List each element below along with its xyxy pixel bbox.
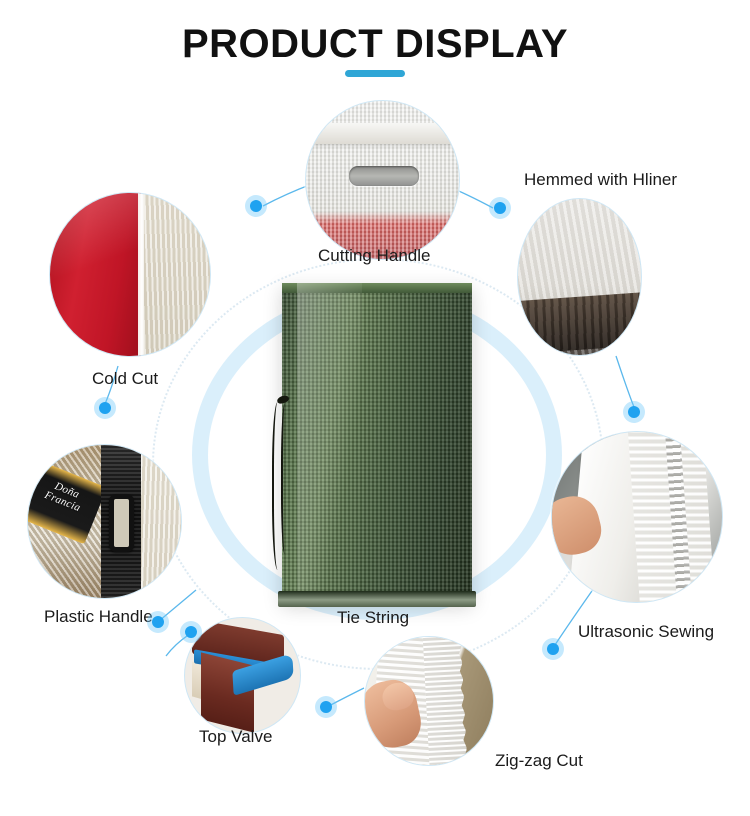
caption-zig-zag-cut: Zig-zag Cut — [495, 751, 583, 771]
caption-plastic-handle: Plastic Handle — [44, 607, 153, 627]
bag-bottom-seam — [278, 591, 476, 607]
caption-ultrasonic-sewing: Ultrasonic Sewing — [578, 622, 714, 642]
line-zig-zag — [327, 688, 364, 707]
caption-cold-cut: Cold Cut — [92, 369, 158, 389]
title-underline-accent — [345, 70, 405, 77]
top-valve-photo[interactable] — [184, 617, 301, 734]
caption-top-valve: Top Valve — [199, 727, 272, 747]
zig-zag-serrated-edge — [423, 636, 469, 766]
zig-zag-cut-photo[interactable] — [364, 636, 494, 766]
page-title: PRODUCT DISPLAY — [0, 22, 750, 67]
connector-dot-cutting-handle-left — [250, 200, 262, 212]
valve-bag-body — [201, 653, 254, 733]
connector-dot-top-valve — [185, 626, 197, 638]
cold-cut-photo[interactable] — [49, 192, 211, 357]
caption-hemmed-with-hliner: Hemmed with Hliner — [524, 170, 677, 190]
tie-string-second-strand — [281, 404, 290, 554]
die-cut-handle-slot — [349, 166, 419, 187]
bag-top-fold — [305, 123, 460, 144]
plastic-handle-photo[interactable]: Doña Francia — [27, 444, 182, 599]
connector-dot-plastic-handle — [152, 616, 164, 628]
connector-dot-ultrasonic — [547, 643, 559, 655]
ultrasonic-sewing-photo[interactable] — [551, 431, 723, 603]
product-display-infographic: PRODUCT DISPLAY Cutting Handle — [0, 0, 750, 816]
cream-woven-panel — [144, 193, 210, 356]
caption-cutting-handle: Cutting Handle — [318, 246, 430, 266]
connector-dot-cold-cut — [99, 402, 111, 414]
connector-dot-cutting-handle-right — [494, 202, 506, 214]
wood-surface — [517, 292, 642, 355]
line-hemmed — [616, 356, 634, 407]
plastic-clip-handle — [109, 494, 133, 552]
green-woven-bag[interactable] — [282, 283, 472, 601]
bag-gloss-highlight — [297, 283, 362, 601]
connector-dot-hemmed — [628, 406, 640, 418]
caption-tie-string: Tie String — [337, 608, 409, 628]
connector-dot-zig-zag — [320, 701, 332, 713]
red-laminate-panel — [50, 193, 141, 356]
hemmed-with-hliner-photo[interactable] — [517, 198, 642, 356]
white-fabric-panel — [141, 445, 181, 598]
cutting-handle-photo[interactable] — [305, 100, 460, 260]
